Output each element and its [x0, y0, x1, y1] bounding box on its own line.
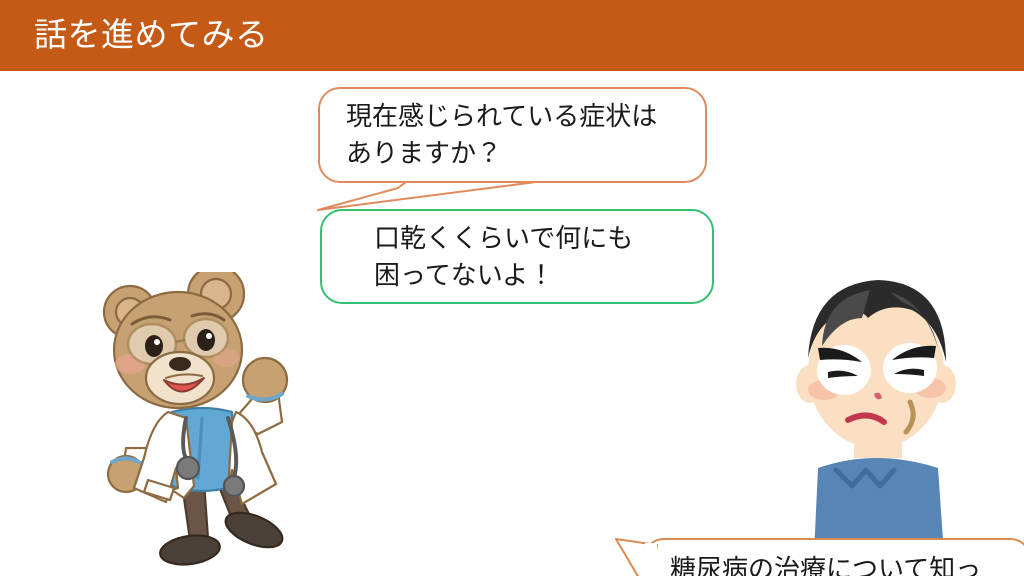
speech-bubble-doctor-1: 現在感じられている症状は ありますか？: [318, 87, 707, 183]
bubble-line: 現在感じられている症状は: [346, 98, 731, 135]
speech-bubble-tail-right: [1012, 459, 1024, 519]
speech-bubble-doctor-2: 糖尿病の治療について知っ ていることはありますか？: [642, 538, 1024, 576]
patient-man-illustration: [762, 262, 992, 574]
bubble-line: 口乾くくらいで何にも: [374, 220, 764, 257]
speech-bubble-patient-1: 口乾くくらいで何にも 困ってないよ！ 糖尿病の治療について知っ ていることはあり…: [320, 209, 714, 304]
bubble-line: ありますか？: [346, 135, 731, 172]
speech-bubble-text: 糖尿病の治療について知っ ていることはありますか？: [644, 540, 1024, 576]
doctor-bear-illustration: [82, 272, 322, 572]
bubble-line: 困ってないよ！: [374, 257, 764, 294]
speech-bubble-text: 現在感じられている症状は ありますか？: [320, 89, 731, 181]
bubble-line: 糖尿病の治療について知っ: [670, 551, 1024, 576]
slide-canvas: 話を進めてみる: [0, 0, 1024, 576]
speech-bubble-text: 口乾くくらいで何にも 困ってないよ！: [322, 211, 764, 302]
page-title: 話を進めてみる: [34, 12, 269, 58]
